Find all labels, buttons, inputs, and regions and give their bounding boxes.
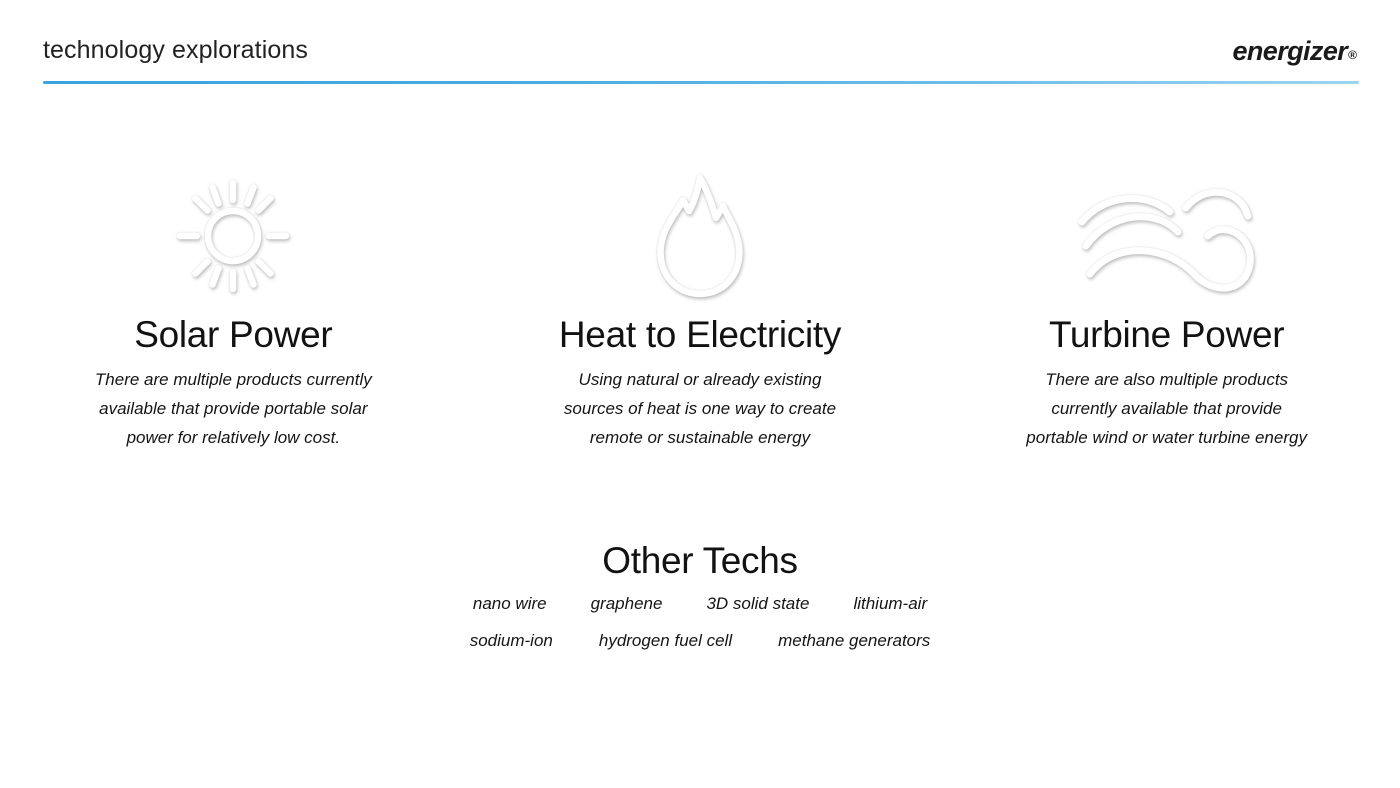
card-solar-power: Solar Power There are multiple products … bbox=[0, 170, 467, 452]
tech-tag: hydrogen fuel cell bbox=[599, 626, 732, 655]
card-description-line: Using natural or already existing bbox=[564, 365, 836, 394]
energizer-logo: energizer ® bbox=[1233, 36, 1358, 67]
flame-icon bbox=[640, 170, 760, 302]
page-title: technology explorations bbox=[43, 36, 308, 65]
card-description: There are also multiple products current… bbox=[1026, 365, 1307, 452]
tech-tag: nano wire bbox=[473, 589, 547, 618]
tech-tag: sodium-ion bbox=[470, 626, 553, 655]
card-heading: Turbine Power bbox=[1049, 314, 1284, 355]
brand-wordmark: energizer bbox=[1233, 36, 1348, 67]
sun-icon bbox=[159, 170, 307, 302]
tech-tag: lithium-air bbox=[853, 589, 927, 618]
other-techs-row-2: sodium-ion hydrogen fuel cell methane ge… bbox=[470, 626, 931, 655]
tech-tag: graphene bbox=[591, 589, 663, 618]
registered-trademark-icon: ® bbox=[1348, 48, 1357, 62]
page-header: technology explorations energizer ® bbox=[0, 0, 1400, 92]
card-description-line: remote or sustainable energy bbox=[564, 423, 836, 452]
card-heat-to-electricity: Heat to Electricity Using natural or alr… bbox=[467, 170, 934, 452]
card-description-line: There are also multiple products bbox=[1026, 365, 1307, 394]
card-description-line: currently available that provide bbox=[1026, 394, 1307, 423]
card-description: Using natural or already existing source… bbox=[564, 365, 836, 452]
tech-tag: 3D solid state bbox=[706, 589, 809, 618]
technology-card-row: Solar Power There are multiple products … bbox=[0, 170, 1400, 452]
header-divider bbox=[43, 81, 1359, 84]
card-description-line: sources of heat is one way to create bbox=[564, 394, 836, 423]
other-techs-row-1: nano wire graphene 3D solid state lithiu… bbox=[473, 589, 927, 618]
card-heading: Heat to Electricity bbox=[559, 314, 841, 355]
card-description-line: portable wind or water turbine energy bbox=[1026, 423, 1307, 452]
other-techs-heading: Other Techs bbox=[602, 540, 798, 581]
tech-tag: methane generators bbox=[778, 626, 930, 655]
card-description-line: There are multiple products currently bbox=[95, 365, 372, 394]
card-description-line: power for relatively low cost. bbox=[95, 423, 372, 452]
card-turbine-power: Turbine Power There are also multiple pr… bbox=[933, 170, 1400, 452]
other-techs-section: Other Techs nano wire graphene 3D solid … bbox=[0, 540, 1400, 655]
card-heading: Solar Power bbox=[134, 314, 332, 355]
card-description-line: available that provide portable solar bbox=[95, 394, 372, 423]
wind-icon bbox=[1074, 170, 1260, 302]
card-description: There are multiple products currently av… bbox=[95, 365, 372, 452]
